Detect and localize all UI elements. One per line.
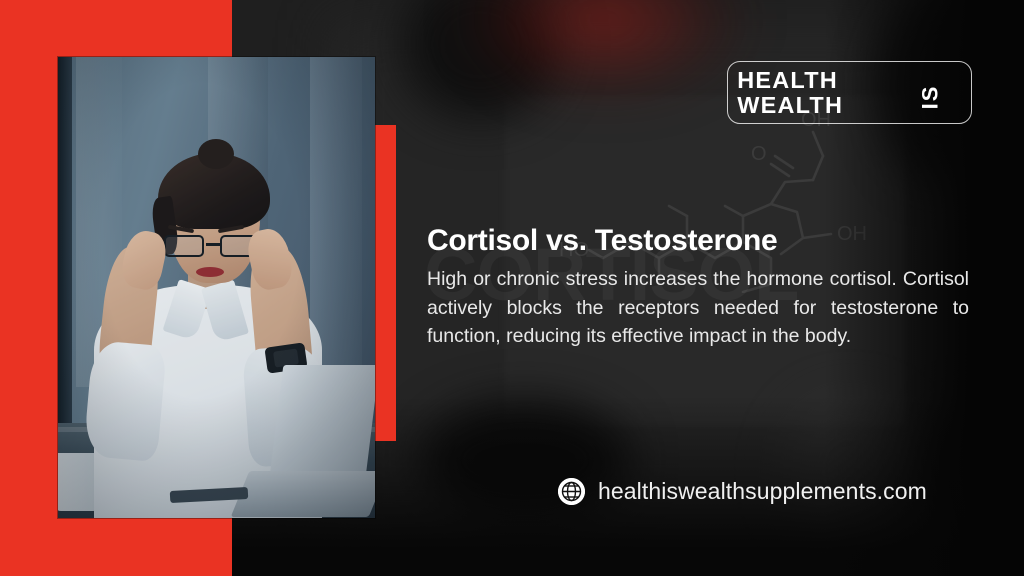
health-is-wealth-logo[interactable]: HEALTH WEALTH IS	[727, 61, 972, 124]
svg-text:O: O	[751, 143, 767, 165]
logo-is-mark: IS	[922, 72, 962, 116]
globe-icon	[558, 478, 585, 505]
text-content-block: Cortisol vs. Testosterone High or chroni…	[427, 224, 969, 351]
logo-line-wealth: WEALTH	[737, 94, 919, 117]
website-url[interactable]: healthiswealthsupplements.com	[598, 478, 927, 505]
page-title: Cortisol vs. Testosterone	[427, 224, 969, 258]
logo-is-text: IS	[917, 85, 943, 110]
background-red-glow	[455, 0, 755, 110]
body-paragraph: High or chronic stress increases the hor…	[427, 265, 969, 351]
logo-wordmark: HEALTH WEALTH	[739, 68, 917, 118]
photo-vignette	[58, 57, 375, 518]
logo-line-health: HEALTH	[737, 69, 919, 92]
stressed-woman-photo	[58, 57, 375, 518]
website-footer[interactable]: healthiswealthsupplements.com	[558, 478, 927, 505]
